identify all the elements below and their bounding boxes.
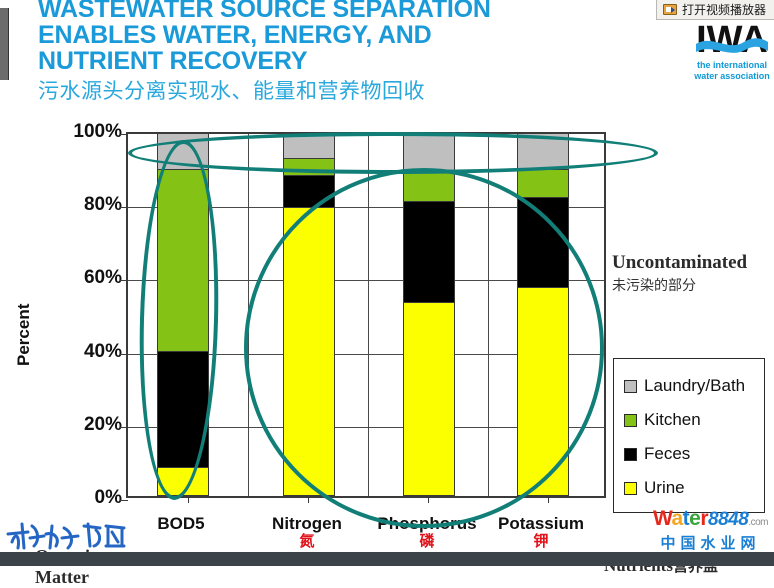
x-tick-mark — [548, 496, 549, 503]
vertical-gridline — [248, 134, 249, 496]
legend-label: Feces — [644, 444, 690, 464]
x-category-nitrogen: Nitrogen氮 — [237, 514, 377, 551]
title-chinese: 污水源头分离实现水、能量和营养物回收 — [38, 76, 598, 106]
x-tick-mark — [428, 496, 429, 503]
water8848-wordmark: Water8848.com — [653, 508, 768, 534]
x-category-label-zh: 钾 — [471, 530, 611, 551]
y-tick-mark — [120, 500, 128, 501]
segment-kitchen — [283, 158, 335, 176]
y-tick-mark — [120, 427, 128, 428]
x-category-label-zh: 氮 — [237, 530, 377, 551]
segment-laundry-bath — [517, 133, 569, 170]
svg-text:water association: water association — [693, 71, 770, 81]
vertical-gridline — [368, 134, 369, 496]
legend-swatch — [624, 448, 637, 461]
legend-item-kitchen[interactable]: Kitchen — [624, 403, 764, 437]
legend-label: Laundry/Bath — [644, 376, 745, 396]
y-tick-mark — [120, 207, 128, 208]
open-video-player-button[interactable]: 打开视频播放器 — [656, 0, 774, 20]
annotation-uncontaminated-zh: 未污染的部分 — [612, 275, 747, 295]
legend-swatch — [624, 380, 637, 393]
legend-swatch — [624, 482, 637, 495]
y-tick-mark — [120, 280, 128, 281]
brand-letter-a: a — [671, 507, 682, 530]
segment-kitchen — [403, 172, 455, 201]
open-video-player-label: 打开视频播放器 — [682, 1, 766, 18]
y-tick-label: 20% — [50, 414, 122, 436]
segment-kitchen — [157, 169, 209, 352]
vertical-gridline — [488, 134, 489, 496]
chart-legend: Laundry/BathKitchenFecesUrine — [613, 358, 765, 513]
segment-feces — [517, 197, 569, 289]
segment-laundry-bath — [283, 133, 335, 159]
bar-nitrogen — [283, 134, 335, 496]
legend-label: Urine — [644, 478, 685, 498]
segment-feces — [283, 175, 335, 208]
segment-laundry-bath — [403, 133, 455, 173]
brand-letter-w: W — [653, 507, 672, 530]
bar-bod5 — [157, 134, 209, 496]
y-tick-mark — [120, 134, 128, 135]
x-category-label: BOD5 — [157, 514, 204, 533]
legend-item-laundry-bath[interactable]: Laundry/Bath — [624, 369, 764, 403]
annotation-uncontaminated: Uncontaminated 未污染的部分 — [612, 252, 747, 295]
legend-label: Kitchen — [644, 410, 701, 430]
brand-letter-r: r — [700, 507, 708, 530]
x-category-potassium: Potassium钾 — [471, 514, 611, 551]
brand-letter-e: e — [689, 507, 700, 530]
annotation-organic-line2: Matter — [35, 567, 98, 588]
y-axis-ticks: 0%20%40%60%80%100% — [42, 118, 122, 518]
y-tick-label: 100% — [50, 121, 122, 143]
segment-laundry-bath — [157, 133, 209, 170]
segment-urine — [283, 207, 335, 496]
footer-bar — [0, 552, 774, 566]
segment-urine — [517, 287, 569, 496]
stacked-bar-chart: Percent 0%20%40%60%80%100% BOD5Nitrogen氮… — [0, 118, 774, 518]
segment-feces — [157, 351, 209, 468]
segment-feces — [403, 201, 455, 303]
title-line-2: ENABLES WATER, ENERGY, AND — [38, 22, 598, 48]
bar-potassium — [517, 134, 569, 496]
legend-item-feces[interactable]: Feces — [624, 437, 764, 471]
legend-swatch — [624, 414, 637, 427]
y-tick-label: 80% — [50, 194, 122, 216]
title-line-3: NUTRIENT RECOVERY — [38, 48, 598, 74]
brand-domain-suffix: .com — [748, 517, 768, 528]
y-tick-label: 40% — [50, 341, 122, 363]
brand-number: 8848 — [708, 509, 748, 530]
y-axis-label: Percent — [14, 304, 34, 366]
slide-title: WASTEWATER SOURCE SEPARATION ENABLES WAT… — [38, 0, 598, 106]
y-tick-label: 0% — [50, 487, 122, 509]
water8848-chinese: 中国水业网 — [653, 534, 768, 552]
segment-kitchen — [517, 169, 569, 198]
water-world-watermark — [4, 512, 134, 554]
title-line-1: WASTEWATER SOURCE SEPARATION — [38, 0, 598, 22]
iwa-logo: IWA the international water association — [690, 18, 774, 84]
plot-area — [126, 132, 606, 498]
y-tick-mark — [120, 354, 128, 355]
water8848-logo: Water8848.com 中国水业网 — [653, 508, 768, 552]
left-frame-bar — [0, 8, 9, 80]
annotation-uncontaminated-en: Uncontaminated — [612, 252, 747, 273]
video-camera-icon — [663, 4, 677, 15]
x-tick-mark — [308, 496, 309, 503]
svg-text:the international: the international — [697, 60, 767, 70]
segment-urine — [403, 302, 455, 496]
x-tick-mark — [188, 496, 189, 503]
bar-phosphorus — [403, 134, 455, 496]
segment-urine — [157, 467, 209, 496]
y-tick-label: 60% — [50, 267, 122, 289]
legend-item-urine[interactable]: Urine — [624, 471, 764, 505]
